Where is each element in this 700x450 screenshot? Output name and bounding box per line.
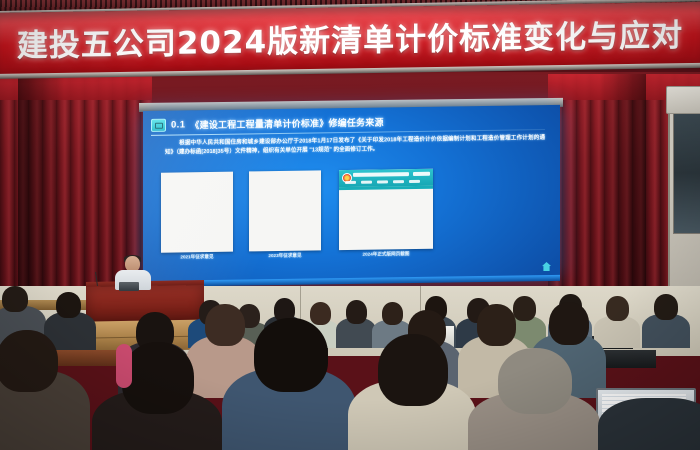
audience-head [513, 296, 536, 321]
banner-title-text: 建投五公司2024版新清单计价标准变化与应对 [17, 10, 683, 65]
audience-head [382, 302, 403, 325]
curtain-shadow-left [18, 74, 64, 312]
audience-head-foreground [122, 342, 194, 414]
audience-head [477, 304, 516, 346]
hair-tie-accessory [116, 344, 132, 388]
thumbnail-nav-item [409, 180, 420, 183]
slide-body-text: 根据中华人民共和国住房和城乡建设部办公厅于2018年1月17日发布了《关于印发2… [165, 134, 545, 158]
slide-body-paragraph: 根据中华人民共和国住房和城乡建设部办公厅于2018年1月17日发布了《关于印发2… [165, 135, 545, 156]
thumbnail-search-bar [353, 172, 409, 177]
curtain-shadow-right [600, 74, 646, 312]
audience-head-foreground [0, 330, 58, 392]
audience-head-foreground [378, 334, 448, 406]
audience-head [606, 296, 629, 321]
slide-title-text: 《建设工程工程量清单计价标准》修编任务来源 [190, 115, 383, 131]
air-conditioner-unit [666, 86, 700, 114]
thumbnail-nav-item [345, 181, 356, 184]
audience-head [2, 286, 28, 312]
slide-thumbnail-caption-3: 2024年正式版网页截图 [339, 251, 433, 258]
slide-thumbnail-caption-1: 2021年征求意见 [161, 254, 233, 261]
house-logo-icon [541, 261, 552, 272]
presenter [113, 256, 153, 288]
thumbnail-webpage-header [339, 169, 433, 187]
slide-thumbnail-2 [249, 170, 321, 251]
audience-head [205, 304, 245, 346]
audience-head [549, 302, 589, 345]
slide-thumbnail-caption-2: 2023年征求意见 [249, 252, 321, 259]
audience-member-foreground [598, 398, 700, 450]
slide-thumbnail-3 [339, 169, 433, 250]
slide-title-number: 0.1 [171, 119, 185, 130]
thumbnail-nav-item [361, 181, 372, 184]
audience-head [346, 300, 367, 324]
audience-head-foreground [498, 348, 572, 414]
thumbnail-header-button [413, 172, 430, 176]
window-glass-right [673, 112, 700, 234]
presenter-laptop [119, 282, 139, 291]
slide-thumbnail-1 [161, 172, 233, 253]
audience-head-foreground [254, 318, 328, 392]
thumbnail-nav-item [377, 180, 388, 183]
thumbnail-header-divider [339, 186, 433, 190]
slide-thumbnail-row: 2021年征求意见 2023年征求意见 2024年正式版网页截图 [161, 167, 543, 265]
projection-screen: 0.1 《建设工程工程量清单计价标准》修编任务来源 根据中华人民共和国住房和城乡… [143, 105, 560, 283]
auditorium-photo: 建投五公司2024版新清单计价标准变化与应对 0.1 《建设工程工程量清单计价标… [0, 0, 700, 450]
audience-head [310, 302, 331, 325]
audience-head [56, 292, 81, 318]
audience-head [654, 294, 678, 320]
document-grid-icon [151, 119, 166, 132]
thumbnail-nav-item [393, 180, 404, 183]
